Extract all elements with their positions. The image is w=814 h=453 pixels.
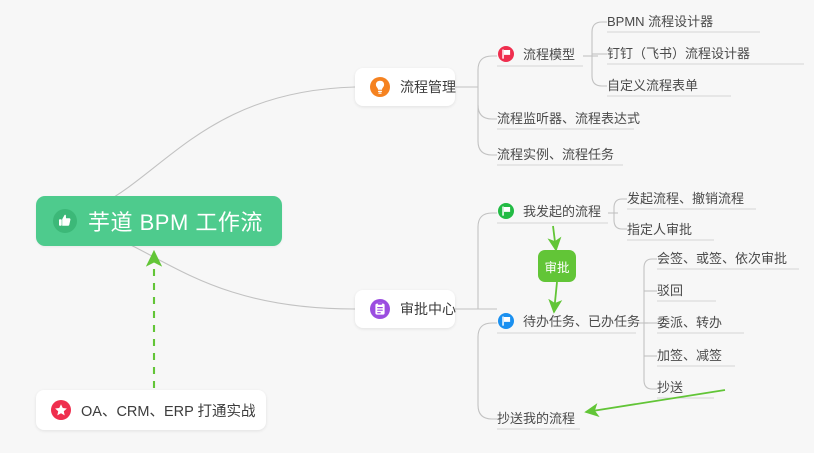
topic-todo-done-tasks[interactable]: 待办任务、已办任务	[497, 311, 640, 334]
topic-label-custom-form: 自定义流程表单	[607, 75, 698, 94]
flag-icon	[497, 312, 515, 330]
annotation-chip-approval[interactable]: 审批	[538, 250, 576, 282]
topic-label-cc-to-me: 抄送我的流程	[497, 408, 575, 427]
wire-approval-trunk-lower	[478, 323, 497, 419]
thumbs-up-icon	[52, 208, 78, 234]
topic-add-remove-sign[interactable]: 加签、减签	[657, 345, 722, 368]
wire-initiated-trunk	[614, 199, 627, 229]
topic-label-add-remove-sign: 加签、减签	[657, 345, 722, 364]
topic-label-assignee-approval: 指定人审批	[627, 219, 692, 238]
branch-node-process-management[interactable]: 流程管理	[355, 68, 455, 106]
topic-label-my-initiated: 我发起的流程	[523, 201, 601, 220]
topic-custom-form[interactable]: 自定义流程表单	[607, 75, 698, 98]
flag-icon	[497, 45, 515, 63]
topic-start-cancel-process[interactable]: 发起流程、撤销流程	[627, 188, 744, 211]
topic-reject[interactable]: 驳回	[657, 280, 683, 303]
arrow-approval-in	[553, 226, 556, 250]
star-icon	[50, 399, 72, 421]
topic-countersign[interactable]: 会签、或签、依次审批	[657, 248, 787, 271]
topic-label-process-model: 流程模型	[523, 44, 575, 63]
branch-label-approval-center: 审批中心	[400, 299, 456, 319]
root-label: 芋道 BPM 工作流	[88, 205, 263, 237]
lightbulb-icon	[369, 76, 391, 98]
branch-node-approval-center[interactable]: 审批中心	[355, 290, 455, 328]
wire-todo-trunk	[644, 259, 657, 389]
topic-listener-expression[interactable]: 流程监听器、流程表达式	[497, 108, 640, 131]
topic-label-dingtalk-designer: 钉钉（飞书）流程设计器	[607, 43, 750, 62]
topic-label-listener-expression: 流程监听器、流程表达式	[497, 108, 640, 127]
topic-bpmn-designer[interactable]: BPMN 流程设计器	[607, 11, 713, 34]
topic-label-start-cancel-process: 发起流程、撤销流程	[627, 188, 744, 207]
callout-node-integration[interactable]: OA、CRM、ERP 打通实战	[36, 390, 266, 430]
flag-icon	[497, 202, 515, 220]
root-node[interactable]: 芋道 BPM 工作流	[36, 196, 282, 246]
topic-delegate-transfer[interactable]: 委派、转办	[657, 312, 722, 335]
topic-dingtalk-designer[interactable]: 钉钉（飞书）流程设计器	[607, 43, 750, 66]
topic-label-reject: 驳回	[657, 280, 683, 299]
topic-label-todo-done-tasks: 待办任务、已办任务	[523, 311, 640, 330]
clipboard-icon	[369, 298, 391, 320]
topic-assignee-approval[interactable]: 指定人审批	[627, 219, 692, 242]
topic-label-instance-task: 流程实例、流程任务	[497, 144, 614, 163]
branch-label-process-management: 流程管理	[400, 77, 456, 97]
wire-approval-trunk-upper	[478, 213, 497, 309]
arrow-approval-out	[554, 282, 557, 312]
topic-instance-task[interactable]: 流程实例、流程任务	[497, 144, 614, 167]
wire-process-trunk-upper	[478, 56, 497, 119]
callout-label: OA、CRM、ERP 打通实战	[81, 400, 256, 421]
topic-cc[interactable]: 抄送	[657, 377, 683, 400]
mindmap-canvas: 芋道 BPM 工作流 流程管理 审批中心 OA、CRM、ERP 打通实战	[0, 0, 814, 453]
topic-cc-to-me[interactable]: 抄送我的流程	[497, 408, 575, 431]
annotation-chip-label: 审批	[544, 257, 569, 276]
topic-process-model[interactable]: 流程模型	[497, 44, 575, 67]
arrow-cc-to-ccmine	[586, 390, 725, 412]
topic-label-delegate-transfer: 委派、转办	[657, 312, 722, 331]
wire-process-trunk-lower	[478, 105, 497, 155]
wire-model-trunk	[592, 22, 607, 86]
topic-my-initiated[interactable]: 我发起的流程	[497, 201, 601, 224]
topic-label-bpmn-designer: BPMN 流程设计器	[607, 11, 713, 30]
topic-label-countersign: 会签、或签、依次审批	[657, 248, 787, 267]
topic-label-cc: 抄送	[657, 377, 683, 396]
